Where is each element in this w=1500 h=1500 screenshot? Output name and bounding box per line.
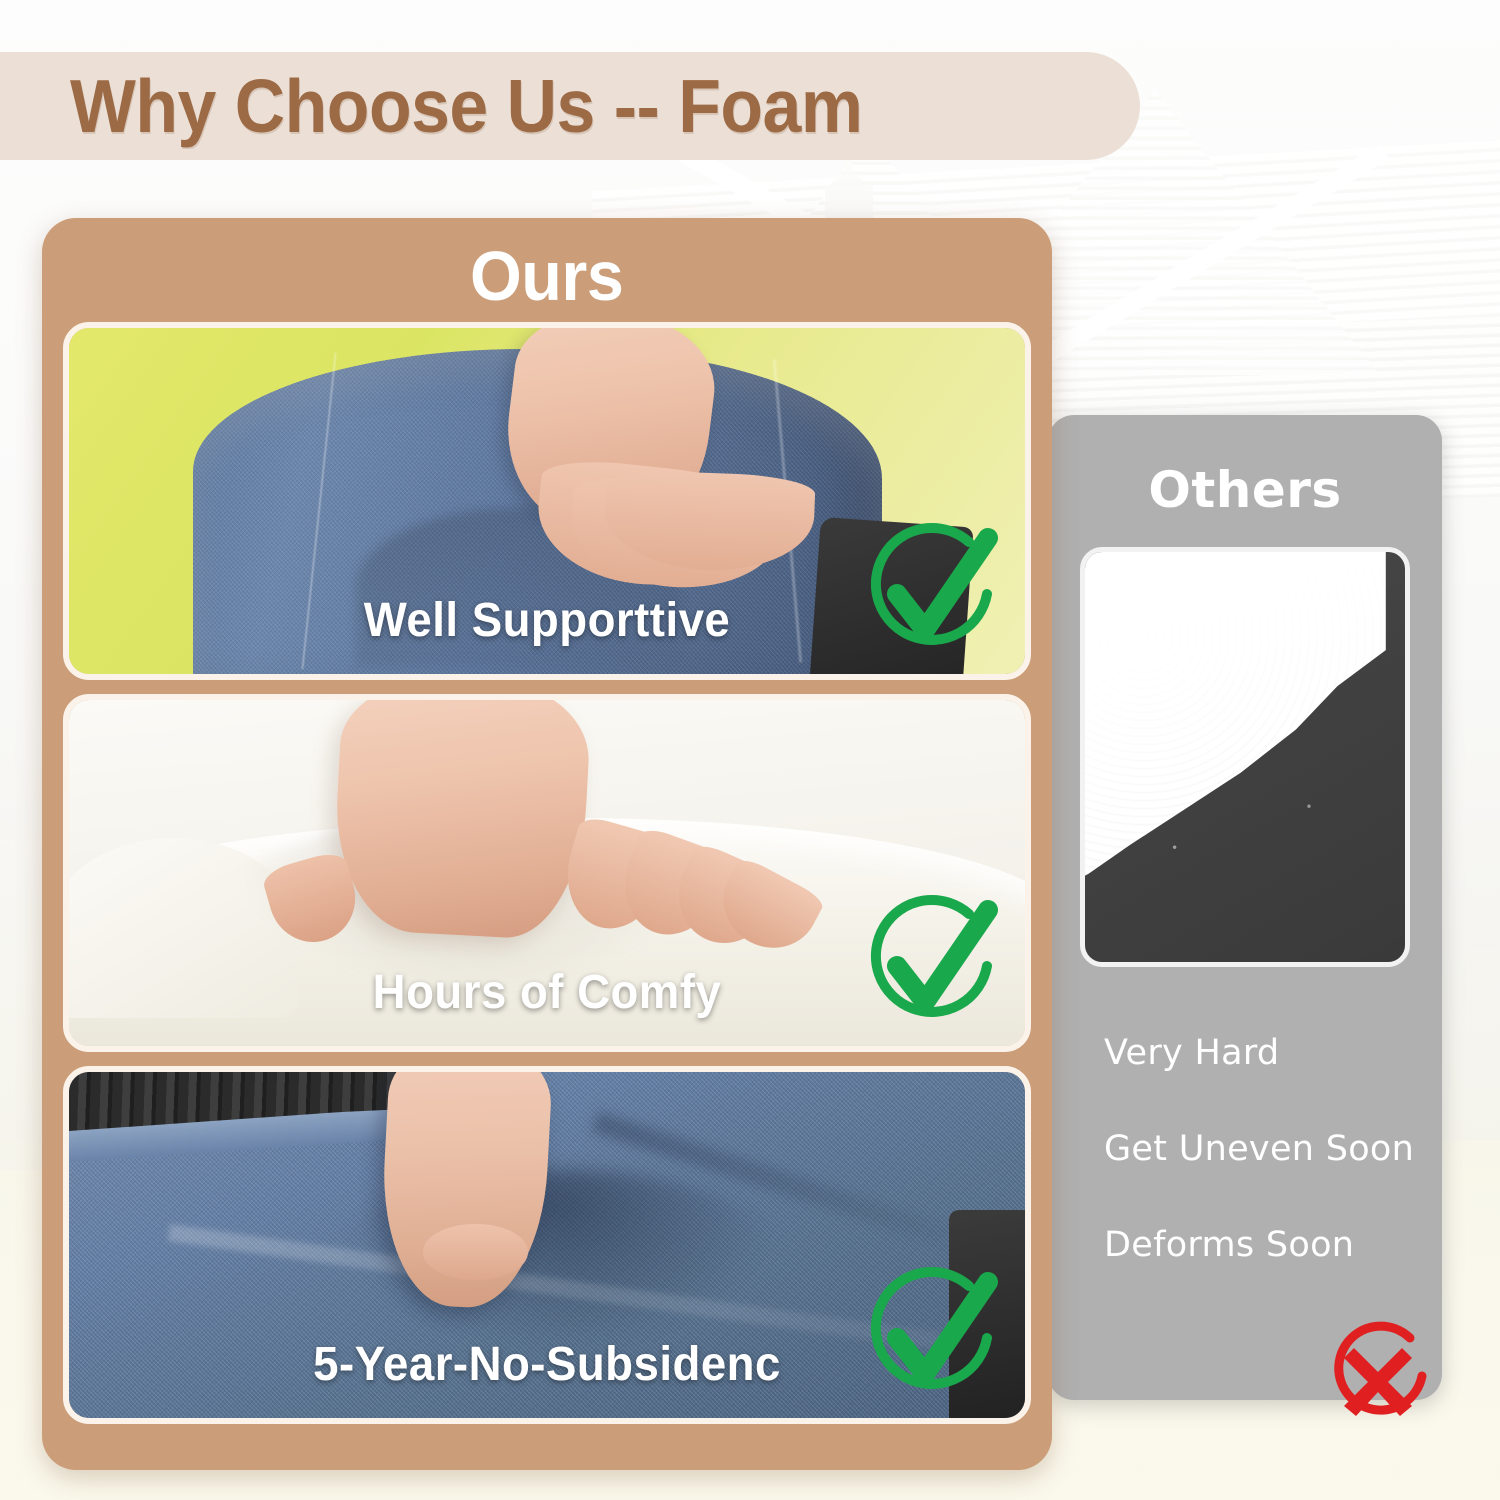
others-list-item: Very Hard (1104, 1033, 1442, 1073)
others-list-item: Deforms Soon (1104, 1225, 1442, 1265)
others-panel-title: Others (1148, 461, 1341, 519)
page-title: Why Choose Us -- Foam (70, 63, 862, 149)
background-roofline-right (1020, 144, 1389, 376)
cross-mark-icon (1318, 1314, 1438, 1434)
card2-hand (330, 694, 592, 942)
feature-card-five-year-no-subsidence: 5-Year-No-Subsidenc (63, 1066, 1031, 1424)
card3-knuckles (423, 1224, 528, 1279)
others-panel: Others Very Hard Get Uneven Soon Deforms… (1048, 415, 1442, 1400)
check-mark-icon (857, 892, 1007, 1042)
ours-panel: Ours Well Supporttive (42, 218, 1052, 1470)
feature-card-well-supportive: Well Supporttive (63, 322, 1031, 680)
others-foam-photo (1080, 547, 1410, 967)
ours-feature-cards: Well Supporttive Hours of Comfy (63, 322, 1031, 1424)
check-mark-icon (857, 1264, 1007, 1414)
ours-panel-title: Ours (470, 236, 623, 316)
others-foam-speckles (1085, 552, 1405, 962)
others-list-item: Get Uneven Soon (1104, 1129, 1442, 1169)
others-drawback-list: Very Hard Get Uneven Soon Deforms Soon (1048, 1033, 1442, 1265)
feature-card-hours-of-comfy: Hours of Comfy (63, 694, 1031, 1052)
title-banner: Why Choose Us -- Foam (0, 52, 1140, 160)
check-mark-icon (857, 520, 1007, 670)
